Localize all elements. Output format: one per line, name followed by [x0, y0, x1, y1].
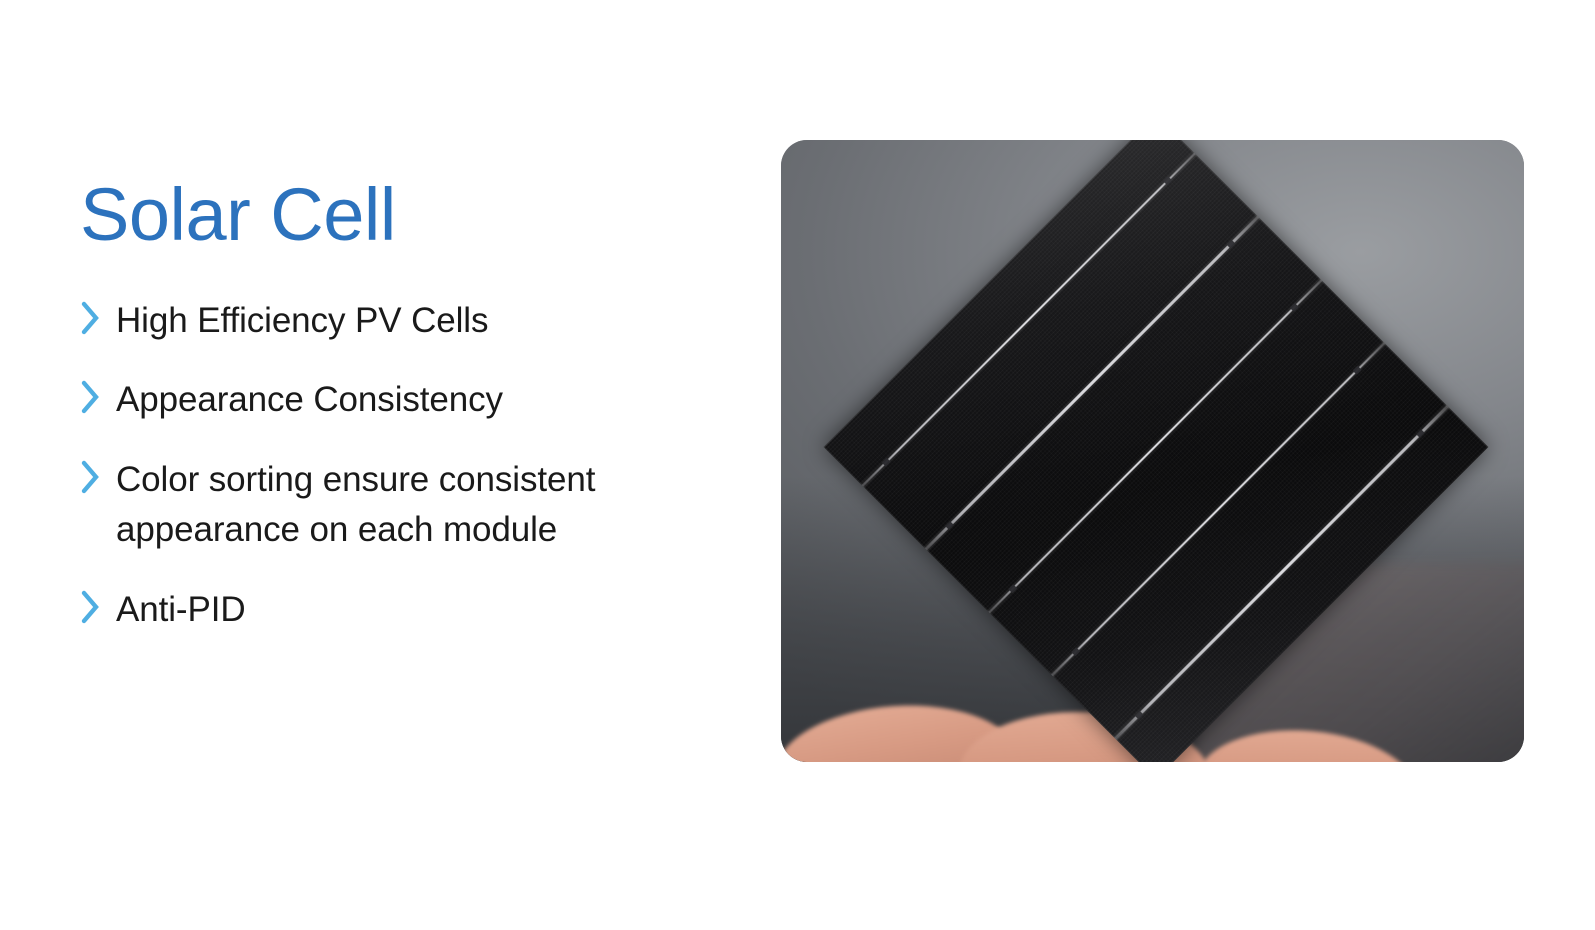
solar-cell-photo	[781, 140, 1524, 762]
chevron-right-icon	[80, 378, 102, 416]
list-item-label: Anti-PID	[116, 585, 246, 635]
chevron-right-icon	[80, 458, 102, 496]
chevron-right-icon	[80, 299, 102, 337]
list-item: Color sorting ensure consistent appearan…	[80, 455, 770, 556]
list-item: High Efficiency PV Cells	[80, 296, 770, 346]
list-item: Anti-PID	[80, 585, 770, 635]
page-title: Solar Cell	[80, 178, 770, 252]
list-item-label: High Efficiency PV Cells	[116, 296, 488, 346]
list-item-label: Appearance Consistency	[116, 375, 503, 425]
feature-bullet-list: High Efficiency PV Cells Appearance Cons…	[80, 296, 770, 635]
slide-canvas: Solar Cell High Efficiency PV Cells Appe…	[0, 0, 1595, 930]
list-item: Appearance Consistency	[80, 375, 770, 425]
chevron-right-icon	[80, 588, 102, 626]
list-item-label: Color sorting ensure consistent appearan…	[116, 455, 756, 556]
content-column: Solar Cell High Efficiency PV Cells Appe…	[80, 178, 770, 635]
